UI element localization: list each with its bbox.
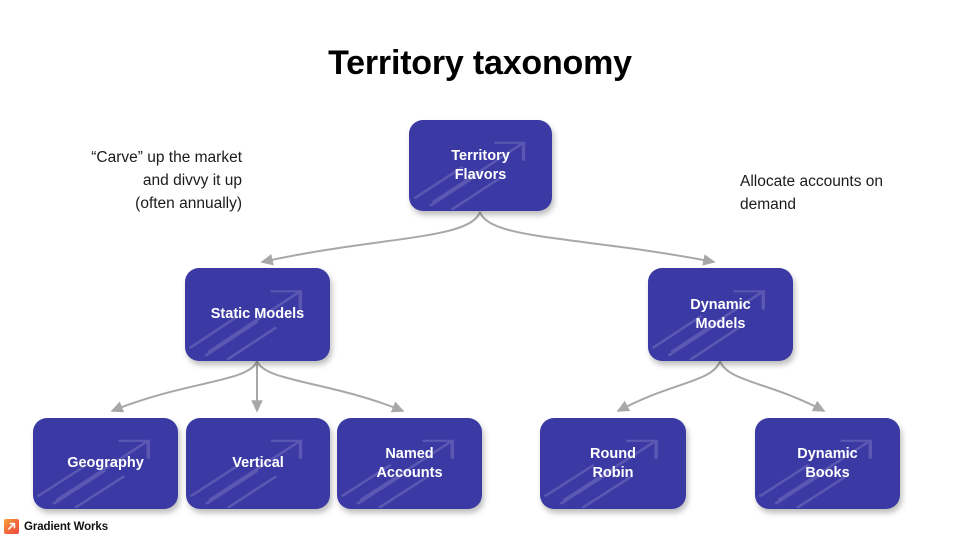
connector-root-to-dynamic <box>480 212 714 262</box>
node-label: Vertical <box>224 454 292 472</box>
node-vertical[interactable]: Vertical <box>186 418 330 509</box>
brand-logo-text: Gradient Works <box>24 521 108 533</box>
page-title: Territory taxonomy <box>0 44 960 83</box>
brand-logo: Gradient Works <box>4 519 108 534</box>
node-label: Territory Flavors <box>443 147 518 183</box>
connector-dynamic-to-round-robin <box>618 361 720 411</box>
connector-dynamic-to-dynamic-books <box>720 361 824 411</box>
node-label: Static Models <box>203 305 312 323</box>
node-dynamic-models[interactable]: Dynamic Models <box>648 268 793 361</box>
slide-canvas: Territory taxonomy <box>0 0 960 540</box>
node-label: Named Accounts <box>368 445 450 481</box>
connector-static-to-named-accounts <box>257 361 403 411</box>
node-label: Dynamic Models <box>682 296 758 332</box>
connector-root-to-static <box>262 212 480 262</box>
node-round-robin[interactable]: Round Robin <box>540 418 686 509</box>
node-dynamic-books[interactable]: Dynamic Books <box>755 418 900 509</box>
node-label: Dynamic Books <box>789 445 865 481</box>
node-named-accounts[interactable]: Named Accounts <box>337 418 482 509</box>
annotation-right: Allocate accounts on demand <box>740 171 940 217</box>
connector-static-to-geography <box>112 361 257 411</box>
node-territory-flavors[interactable]: Territory Flavors <box>409 120 552 211</box>
node-static-models[interactable]: Static Models <box>185 268 330 361</box>
node-label: Round Robin <box>582 445 644 481</box>
annotation-left: “Carve” up the market and divvy it up (o… <box>36 147 242 215</box>
node-label: Geography <box>59 454 152 472</box>
node-geography[interactable]: Geography <box>33 418 178 509</box>
gradient-arrow-icon <box>4 519 19 534</box>
